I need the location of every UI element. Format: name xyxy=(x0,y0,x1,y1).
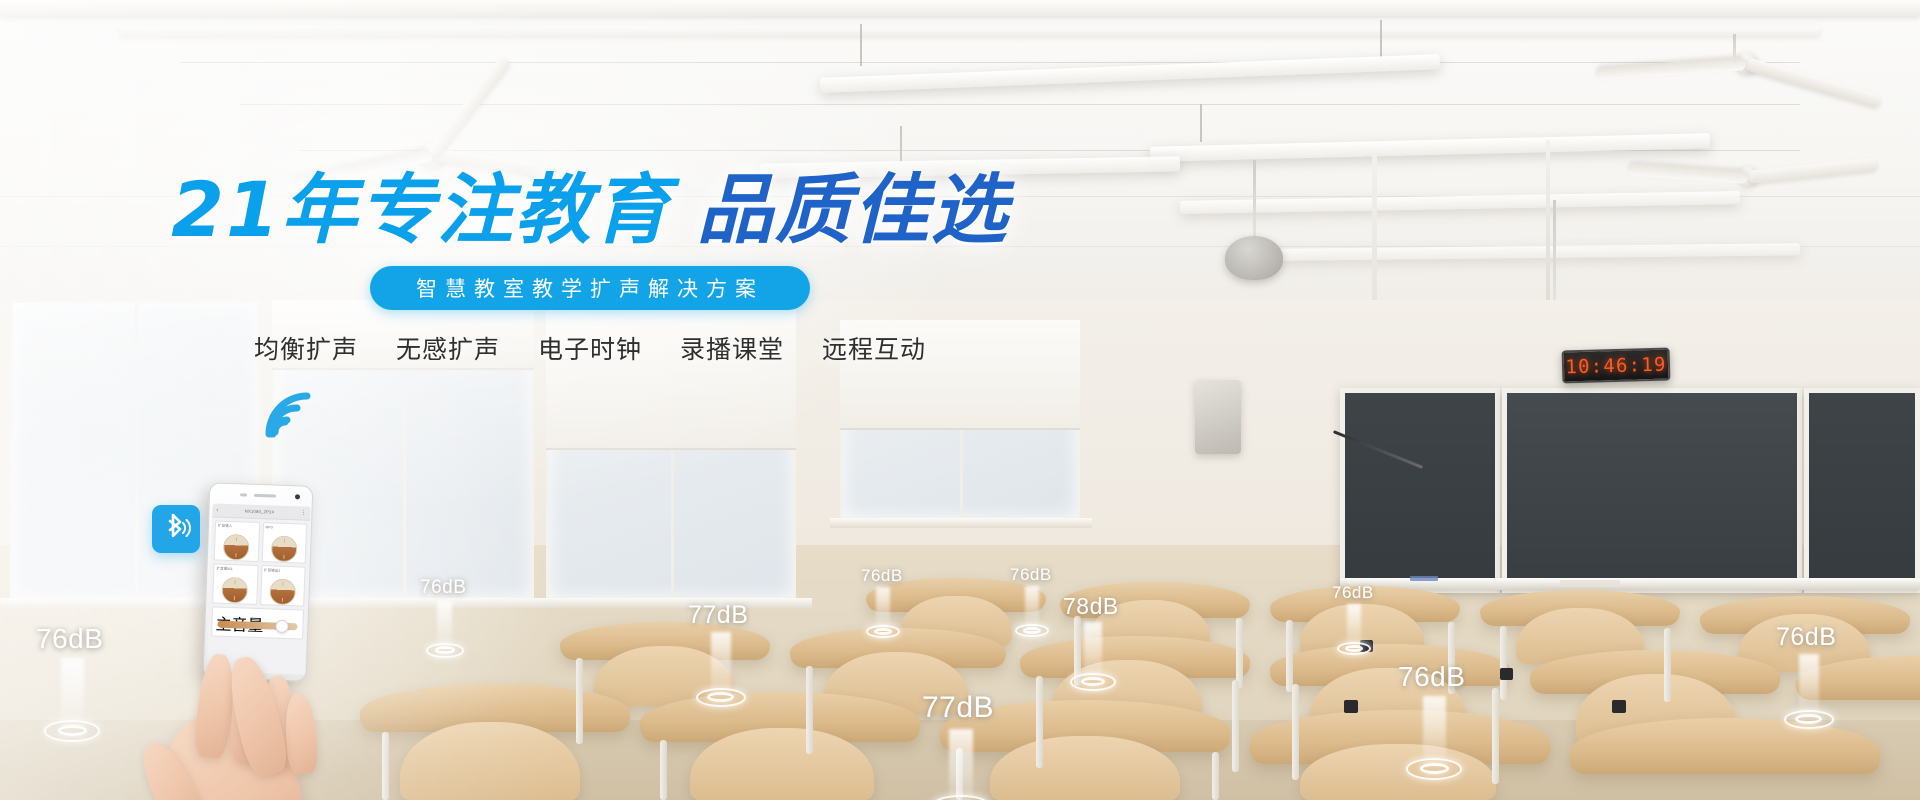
hero-banner: 10:46:19 76dB76dB77dB76dB76dB78dB77dB76d… xyxy=(0,0,1920,800)
app-card-label: MP3 xyxy=(265,525,304,530)
overflow-menu-icon[interactable]: ⋮ xyxy=(300,510,306,516)
blackboard-right-wing xyxy=(1804,388,1920,593)
hero-text-block: 21年专注教育品质佳选 智慧教室教学扩声解决方案 均衡扩声无感扩声电子时钟录播课… xyxy=(0,170,1180,366)
phone-in-hand: ‹ NX1080_2P24 ⋮ 扩音输入MP3扩音输出1扩音输出2主音量 xyxy=(0,470,420,800)
desk-mic-unit xyxy=(1500,668,1513,680)
ceiling-line xyxy=(180,62,1800,63)
speaker-rod xyxy=(1253,160,1256,246)
desk-leg xyxy=(1500,626,1507,700)
ceiling-beam xyxy=(0,0,1920,16)
desk-leg xyxy=(1212,752,1219,800)
light-hanger xyxy=(1200,104,1202,142)
desk-leg xyxy=(1448,622,1455,694)
clock-time-display: 10:46:19 xyxy=(1565,353,1667,378)
desk-mic-unit xyxy=(1612,700,1626,713)
blackboard-left-wing xyxy=(1340,388,1500,593)
subtitle-pill: 智慧教室教学扩声解决方案 xyxy=(370,266,810,310)
desk-leg xyxy=(576,658,583,744)
light-hanger xyxy=(900,126,902,162)
desk-mic-unit xyxy=(1360,640,1373,652)
feature-item-2: 电子时钟 xyxy=(538,330,642,366)
volume-knob[interactable] xyxy=(269,578,296,605)
app-card-label: 扩音输出2 xyxy=(264,568,303,574)
desk-leg xyxy=(1292,684,1299,780)
rail-marker xyxy=(1410,576,1438,581)
desk-leg xyxy=(1664,628,1671,702)
speaker-rod xyxy=(1733,34,1736,62)
earpiece-speaker xyxy=(254,494,276,498)
proximity-sensor xyxy=(240,493,247,496)
feature-list: 均衡扩声无感扩声电子时钟录播课堂远程互动 xyxy=(0,330,1180,366)
desk-leg xyxy=(660,740,667,800)
desk-leg xyxy=(1492,688,1499,784)
rail-tray xyxy=(1560,580,1620,587)
page-title: 21年专注教育品质佳选 xyxy=(0,170,1180,250)
digital-clock: 10:46:19 xyxy=(1562,347,1671,383)
desk-mic-unit xyxy=(1344,700,1358,713)
app-control-card[interactable]: MP3 xyxy=(261,522,307,564)
headline-segment-2: 品质佳选 xyxy=(697,165,1009,254)
front-camera xyxy=(295,494,300,499)
desk-leg xyxy=(1286,620,1293,692)
chevron-left-icon[interactable]: ‹ xyxy=(216,507,218,513)
desk-leg xyxy=(806,666,813,754)
app-card-label: 扩音输入 xyxy=(218,524,257,530)
wall-speaker xyxy=(1195,380,1241,454)
headline-segment-1: 21年专注教育 xyxy=(171,165,671,254)
app-control-card[interactable]: 扩音输出2 xyxy=(260,565,306,607)
app-title: NX1080_2P24 xyxy=(245,508,275,514)
feature-item-3: 录播课堂 xyxy=(680,330,784,366)
app-card-label: 扩音输出1 xyxy=(216,567,255,573)
window-sill xyxy=(830,518,1092,528)
desk-leg xyxy=(1236,618,1243,688)
little-finger xyxy=(283,693,319,775)
desk-leg xyxy=(1074,616,1081,686)
feature-item-1: 无感扩声 xyxy=(396,330,500,366)
feature-item-4: 远程互动 xyxy=(822,330,926,366)
desk-leg xyxy=(1232,680,1239,772)
desk-leg xyxy=(1036,676,1043,768)
volume-knob[interactable] xyxy=(223,534,250,561)
hand xyxy=(150,620,420,800)
volume-knob[interactable] xyxy=(270,535,297,562)
wifi-signal-icon xyxy=(265,382,325,442)
wifi-badge xyxy=(265,382,325,442)
blackboard-center xyxy=(1502,388,1802,593)
ceiling-beam xyxy=(120,26,1820,36)
pendant-speaker xyxy=(1225,236,1283,280)
light-hanger xyxy=(860,24,862,66)
bluetooth-badge xyxy=(152,505,200,553)
app-control-card[interactable]: 扩音输出1 xyxy=(212,563,258,605)
bluetooth-icon xyxy=(161,512,191,546)
feature-item-0: 均衡扩声 xyxy=(254,330,358,366)
desk-leg xyxy=(956,748,963,800)
volume-knob[interactable] xyxy=(222,577,249,604)
app-control-card[interactable]: 扩音输入 xyxy=(214,520,260,562)
